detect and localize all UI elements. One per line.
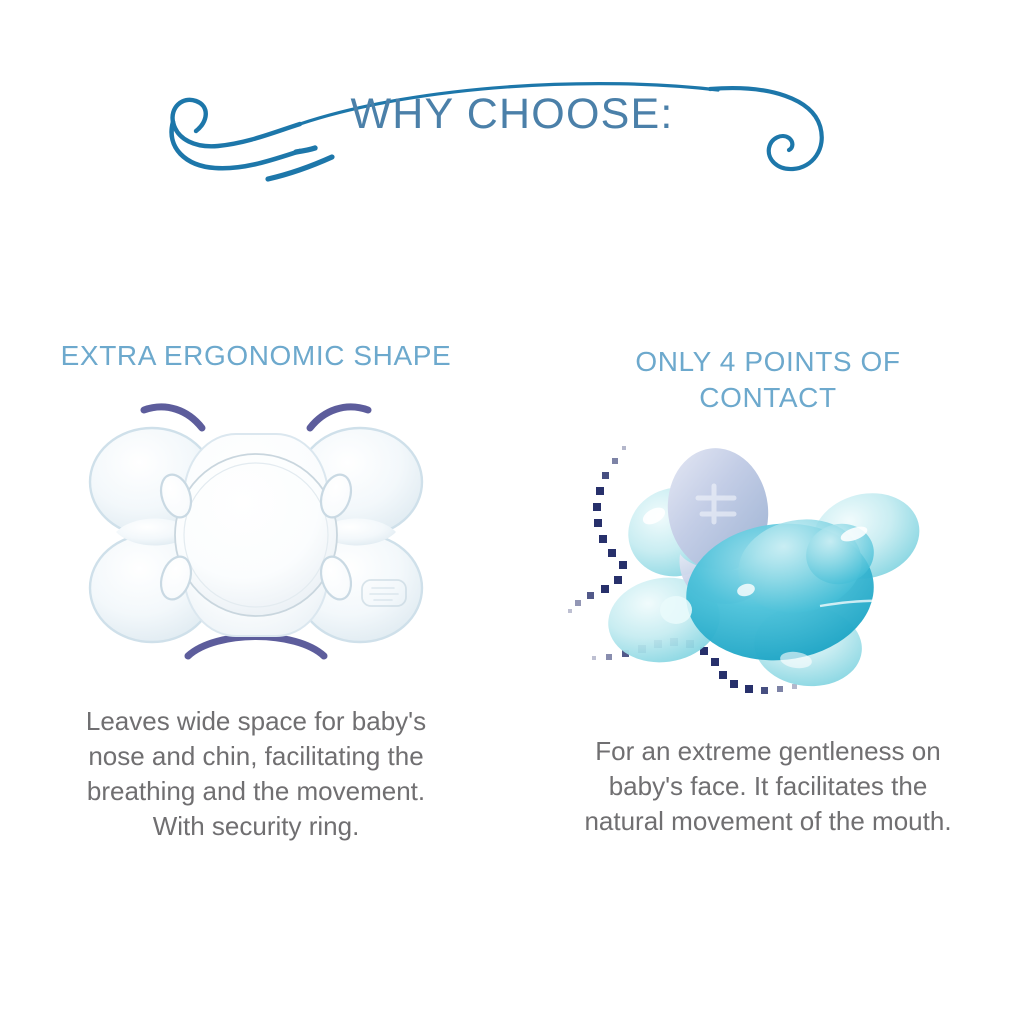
- pacifier-angled-view-image: [568, 424, 968, 724]
- security-ring: [175, 454, 337, 616]
- header: WHY CHOOSE:: [0, 56, 1024, 196]
- accent-dotted-curve-left: [568, 446, 627, 613]
- pacifier-vent-hole: [660, 596, 692, 624]
- feature-heading-ergonomic-shape: EXTRA ERGONOMIC SHAPE: [56, 338, 456, 374]
- accent-arc-top-left: [144, 407, 202, 428]
- accent-arc-bottom: [188, 637, 324, 657]
- feature-body-ergonomic-shape: Leaves wide space for baby's nose and ch…: [66, 704, 446, 844]
- pacifier-front-view-image: [56, 382, 456, 682]
- page-title: WHY CHOOSE:: [0, 90, 1024, 139]
- feature-body-points-of-contact: For an extreme gentleness on baby's face…: [578, 734, 958, 839]
- accent-arc-top-right: [310, 407, 368, 428]
- feature-column-points-of-contact: ONLY 4 POINTS OF CONTACT: [512, 322, 1024, 1002]
- feature-heading-points-of-contact: ONLY 4 POINTS OF CONTACT: [568, 344, 968, 416]
- infographic-page: WHY CHOOSE: EXTRA ERGONOMIC SHAPE: [0, 0, 1024, 1024]
- feature-columns: EXTRA ERGONOMIC SHAPE: [0, 322, 1024, 1002]
- feature-column-ergonomic-shape: EXTRA ERGONOMIC SHAPE: [0, 322, 512, 1002]
